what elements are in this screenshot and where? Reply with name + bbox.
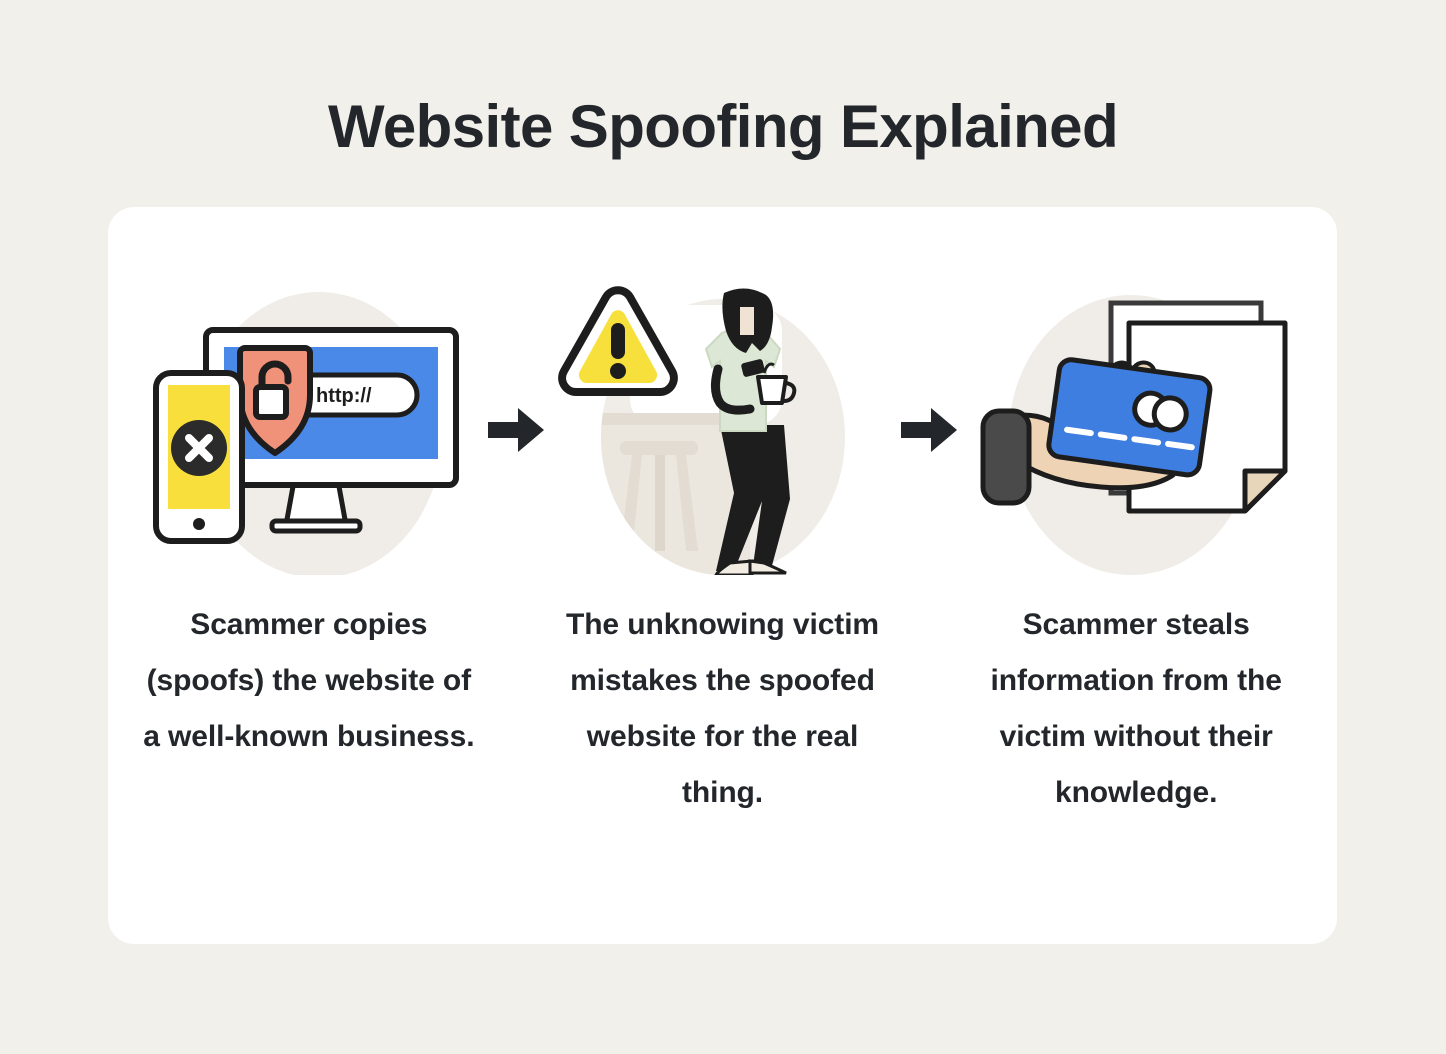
address-bar-text: http://: [316, 385, 372, 407]
spoofed-website-illustration: http://: [144, 285, 474, 575]
card-logo-circle-right: [1152, 396, 1188, 432]
arrow-2: [893, 285, 965, 575]
stool-seat: [620, 441, 698, 455]
person-face: [740, 307, 754, 335]
phone-home-dot: [193, 518, 205, 530]
stolen-credit-card-illustration: [971, 285, 1301, 575]
infographic-card: http:// Scammer copies (spoofs) the webs…: [108, 207, 1337, 944]
page-fold-corner: [1245, 471, 1285, 511]
sleeve: [983, 411, 1029, 503]
step-1-caption: Scammer copies (spoofs) the website of a…: [139, 597, 479, 765]
monitor-stand-base: [272, 521, 360, 531]
step-1: http:// Scammer copies (spoofs) the webs…: [138, 285, 480, 765]
arrow-1: [480, 285, 552, 575]
stool-leg-mid: [655, 455, 665, 551]
exclamation-dot: [610, 363, 626, 379]
step-2: The unknowing victim mistakes the spoofe…: [552, 285, 894, 821]
unknowing-victim-illustration: [558, 285, 888, 575]
infographic-page: Website Spoofing Explained: [0, 0, 1446, 1054]
exclamation-bar: [611, 323, 625, 359]
credit-card: [1047, 358, 1211, 476]
steps-row: http:// Scammer copies (spoofs) the webs…: [108, 207, 1337, 944]
arrow-right-icon: [488, 408, 544, 452]
step-2-caption: The unknowing victim mistakes the spoofe…: [553, 597, 893, 821]
arrow-right-icon: [901, 408, 957, 452]
page-title: Website Spoofing Explained: [0, 92, 1446, 161]
step-3-caption: Scammer steals information from the vict…: [966, 597, 1306, 821]
padlock-body: [256, 387, 286, 417]
warning-triangle-icon: [562, 290, 674, 392]
step-3: Scammer steals information from the vict…: [965, 285, 1307, 821]
